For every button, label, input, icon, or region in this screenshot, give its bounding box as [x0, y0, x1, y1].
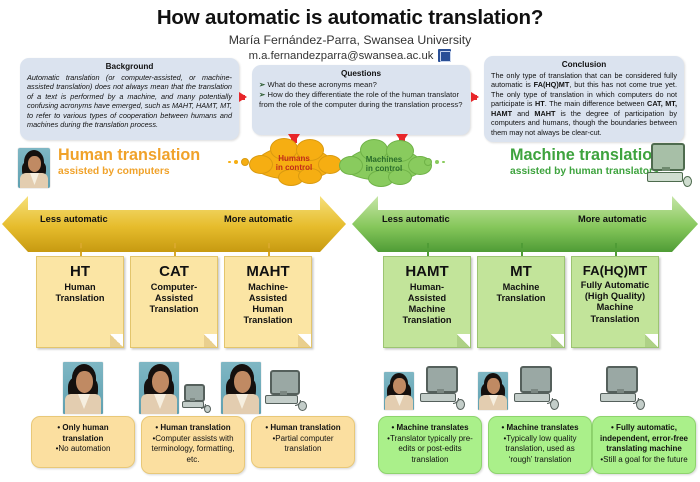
page-fold-icon [110, 334, 123, 347]
author-line: María Fernández-Parra, Swansea Universit… [0, 33, 700, 47]
dots-trail-machines [424, 158, 445, 166]
computer-icon [264, 370, 308, 414]
note-expansion-line: (High Quality) [576, 291, 654, 302]
connector-hamt [427, 243, 429, 257]
computer-icon [512, 366, 562, 414]
note-acronym: HT [41, 264, 119, 280]
computer-icon [418, 366, 468, 414]
note-acronym: CAT [135, 264, 213, 280]
note-expansion-line: Translation [135, 304, 213, 315]
yellow-less-automatic-label: Less automatic [40, 214, 108, 224]
note-acronym: MT [482, 264, 560, 280]
page-title: How automatic is automatic translation? [0, 6, 700, 30]
cloud-machines-line2: in control [366, 164, 402, 173]
woman-icon [221, 362, 261, 414]
conclusion-emphasis: MAHT [534, 109, 555, 118]
machine-automation-scale-arrow [352, 196, 698, 252]
email-address: m.a.fernandezparra@swansea.ac.uk [249, 50, 434, 62]
caption-bold: • Machine translates [391, 423, 468, 432]
small-computer-icon [181, 384, 211, 414]
note-card-hamt: HAMT Human-AssistedMachineTranslation [383, 256, 471, 348]
human-translation-title: Human translation [58, 147, 200, 164]
caption-rest: •Translator typically pre-edits or post-… [384, 434, 476, 466]
note-expansion: HumanTranslation [41, 282, 119, 304]
note-expansion-line: Machine- [229, 282, 307, 293]
questions-list: ➢ What do these acronyms mean?➢ How do t… [259, 80, 463, 111]
background-box: Background Automatic translation (or com… [20, 58, 239, 140]
cloud-humans-line1: Humans [278, 154, 310, 163]
connector-cat [174, 243, 176, 257]
human-translation-subtitle: assisted by computers [58, 166, 170, 177]
note-expansion-line: Translation [482, 293, 560, 304]
note-expansion-line: Human [41, 282, 119, 293]
conclusion-box: Conclusion The only type of translation … [484, 56, 684, 142]
conclusion-emphasis: CAT, MT, HAMT [491, 99, 677, 117]
caption-bold: • Human translation [265, 423, 340, 432]
icons-fahqmt [568, 362, 678, 416]
note-acronym: MAHT [229, 264, 307, 280]
note-card-mt: MT MachineTranslation [477, 256, 565, 348]
connector-ht [80, 243, 82, 257]
caption-rest: •Still a goal for the future [598, 455, 690, 466]
note-card-ht: HT HumanTranslation [36, 256, 124, 348]
questions-heading: Questions [259, 69, 463, 78]
caption-maht: • Human translation •Partial computer tr… [251, 416, 355, 468]
note-expansion-line: Human- [388, 282, 466, 293]
green-less-automatic-label: Less automatic [382, 214, 450, 224]
caption-rest: •Partial computer translation [257, 434, 349, 455]
red-arrow-right-icon [239, 92, 247, 102]
caption-hamt: • Machine translates •Translator typical… [378, 416, 482, 474]
caption-bold: • Fully automatic, independent, error-fr… [600, 423, 688, 453]
page-fold-icon [298, 334, 311, 347]
note-card-fahqmt: FA(HQ)MT Fully Automatic(High Quality)Ma… [571, 256, 659, 348]
arrow-bullet-icon: ➢ [259, 90, 265, 99]
note-expansion: Human-AssistedMachineTranslation [388, 282, 466, 327]
note-expansion-line: Machine [388, 304, 466, 315]
machine-translation-subtitle: assisted by human translators [510, 166, 659, 177]
connector-mt [521, 243, 523, 257]
caption-fahqmt: • Fully automatic, independent, error-fr… [592, 416, 696, 474]
note-expansion: Fully Automatic(High Quality)MachineTran… [576, 280, 654, 325]
note-expansion-line: Translation [576, 314, 654, 325]
note-expansion-line: Assisted [135, 293, 213, 304]
note-acronym: HAMT [388, 264, 466, 280]
machine-translation-title: Machine translation [510, 147, 662, 164]
note-expansion-line: Translation [229, 315, 307, 326]
caption-mt: • Machine translates •Typically low qual… [488, 416, 592, 474]
caption-rest: •Typically low quality translation, used… [494, 434, 586, 466]
note-card-maht: MAHT Machine-AssistedHumanTranslation [224, 256, 312, 348]
yellow-more-automatic-label: More automatic [224, 214, 293, 224]
page-fold-icon [457, 334, 470, 347]
conclusion-heading: Conclusion [491, 60, 677, 69]
note-acronym: FA(HQ)MT [576, 264, 654, 278]
swansea-university-logo-icon [438, 49, 451, 62]
note-expansion: MachineTranslation [482, 282, 560, 304]
note-expansion-line: Machine [576, 302, 654, 313]
woman-icon [63, 362, 103, 414]
human-translation-header: Human translation assisted by computers [18, 146, 248, 190]
woman-icon [139, 362, 179, 414]
green-more-automatic-label: More automatic [578, 214, 647, 224]
desktop-computer-icon [645, 143, 691, 187]
caption-rest: •No automation [37, 444, 129, 455]
note-expansion-line: Assisted [229, 293, 307, 304]
small-woman-icon [478, 372, 508, 410]
arrow-bullet-icon: ➢ [259, 80, 265, 89]
question-item: ➢ What do these acronyms mean? [259, 80, 463, 90]
background-text: Automatic translation (or computer-assis… [27, 73, 232, 130]
caption-bold: • Human translation [155, 423, 230, 432]
red-arrow-right-icon-2 [471, 92, 479, 102]
caption-cat: • Human translation •Computer assists wi… [141, 416, 245, 474]
conclusion-text: The only type of translation that can be… [491, 71, 677, 137]
caption-ht: • Only human translation •No automation [31, 416, 135, 468]
page-fold-icon [204, 334, 217, 347]
background-heading: Background [27, 62, 232, 71]
note-expansion-line: Machine [482, 282, 560, 293]
icons-maht [221, 362, 331, 416]
cloud-machines-in-control: Machines in control [345, 147, 423, 181]
note-expansion-line: Computer- [135, 282, 213, 293]
cloud-humans-line2: in control [276, 163, 312, 172]
caption-bold: • Machine translates [501, 423, 578, 432]
page-fold-icon [551, 334, 564, 347]
cloud-machines-line1: Machines [366, 155, 402, 164]
connector-maht [268, 243, 270, 257]
cloud-humans-in-control: Humans in control [255, 146, 333, 180]
note-expansion-line: Assisted [388, 293, 466, 304]
question-item: ➢ How do they differentiate the role of … [259, 90, 463, 110]
page-fold-icon [645, 334, 658, 347]
note-expansion-line: Translation [41, 293, 119, 304]
note-expansion: Machine-AssistedHumanTranslation [229, 282, 307, 327]
note-card-cat: CAT Computer-AssistedTranslation [130, 256, 218, 348]
caption-bold: • Only human translation [57, 423, 108, 443]
caption-rest: •Computer assists with terminology, form… [147, 434, 239, 466]
note-expansion-line: Translation [388, 315, 466, 326]
connector-fahqmt [615, 243, 617, 257]
small-woman-icon [384, 372, 414, 410]
note-expansion: Computer-AssistedTranslation [135, 282, 213, 316]
conclusion-emphasis: HT [535, 99, 545, 108]
poster-canvas: How automatic is automatic translation? … [0, 0, 700, 482]
note-expansion-line: Human [229, 304, 307, 315]
conclusion-emphasis: FA(HQ)MT [534, 80, 570, 89]
computer-icon [598, 366, 648, 414]
note-expansion-line: Fully Automatic [576, 280, 654, 291]
questions-box: Questions ➢ What do these acronyms mean?… [252, 65, 470, 135]
woman-translator-avatar-icon [18, 148, 50, 188]
